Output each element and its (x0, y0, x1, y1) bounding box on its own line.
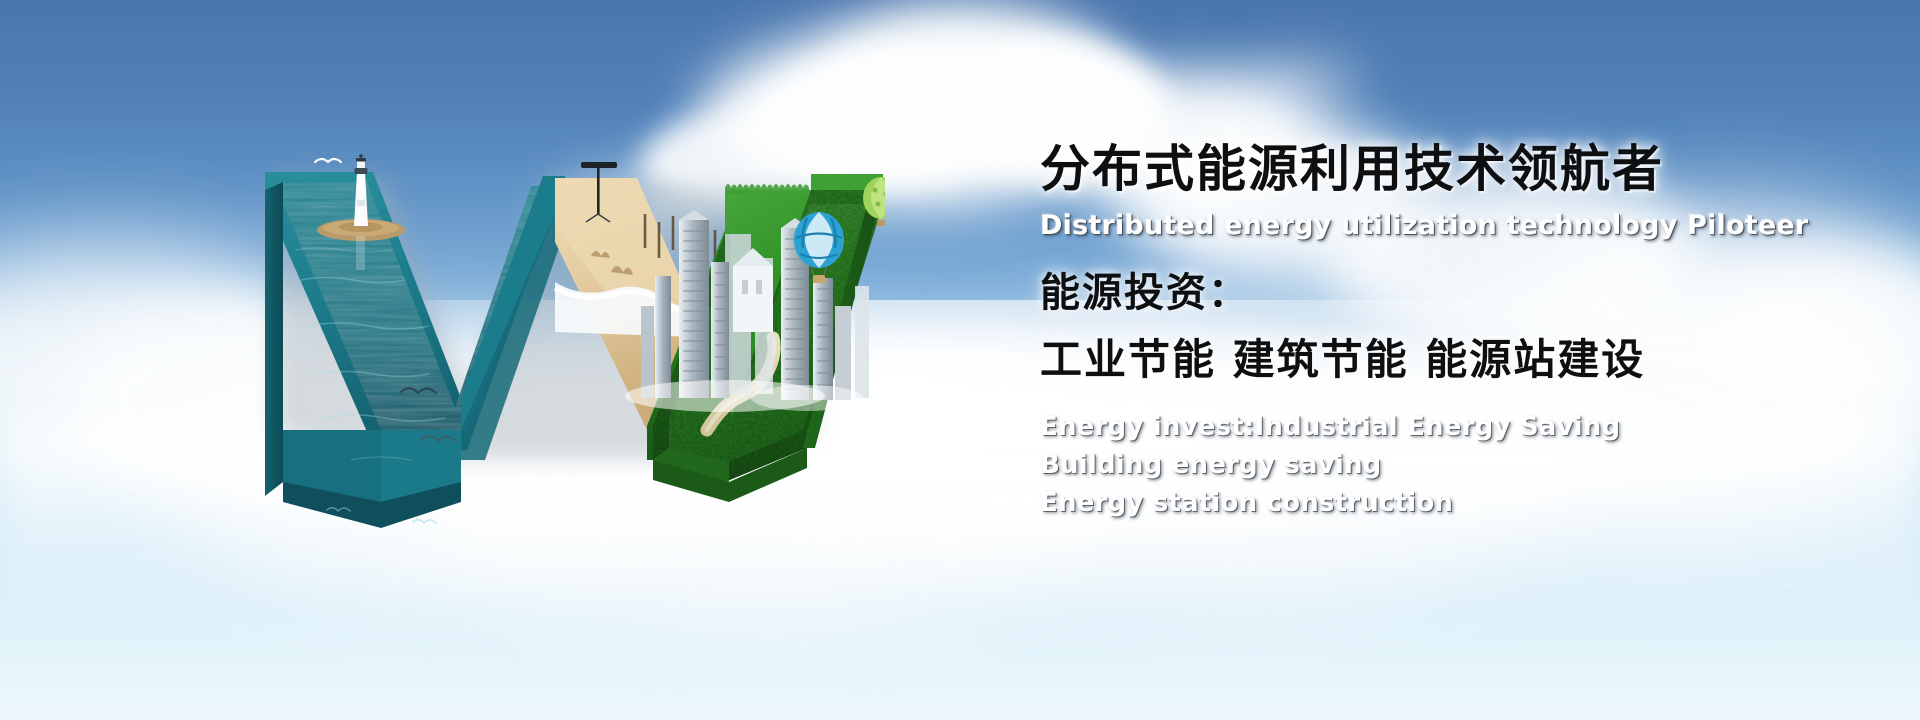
services-english-list: Energy invest:Industrial Energy Saving B… (1040, 408, 1880, 522)
subtitle-english: Distributed energy utilization technolog… (1040, 210, 1880, 242)
section-label-chinese: 能源投资： (1040, 268, 1880, 318)
services-english-line-3: Energy station construction (1040, 484, 1880, 522)
lighthouse-icon (354, 154, 368, 226)
hero-banner: 分布式能源利用技术领航者 Distributed energy utilizat… (0, 0, 1920, 720)
headline-chinese: 分布式能源利用技术领航者 (1040, 140, 1880, 198)
services-english-line-1: Energy invest:Industrial Energy Saving (1040, 408, 1880, 446)
w-logo-artwork (255, 130, 885, 560)
banner-text-block: 分布式能源利用技术领航者 Distributed energy utilizat… (1040, 140, 1880, 522)
services-english-line-2: Building energy saving (1040, 446, 1880, 484)
seagull-icon (315, 159, 341, 162)
services-chinese: 工业节能 建筑节能 能源站建设 (1040, 334, 1880, 386)
